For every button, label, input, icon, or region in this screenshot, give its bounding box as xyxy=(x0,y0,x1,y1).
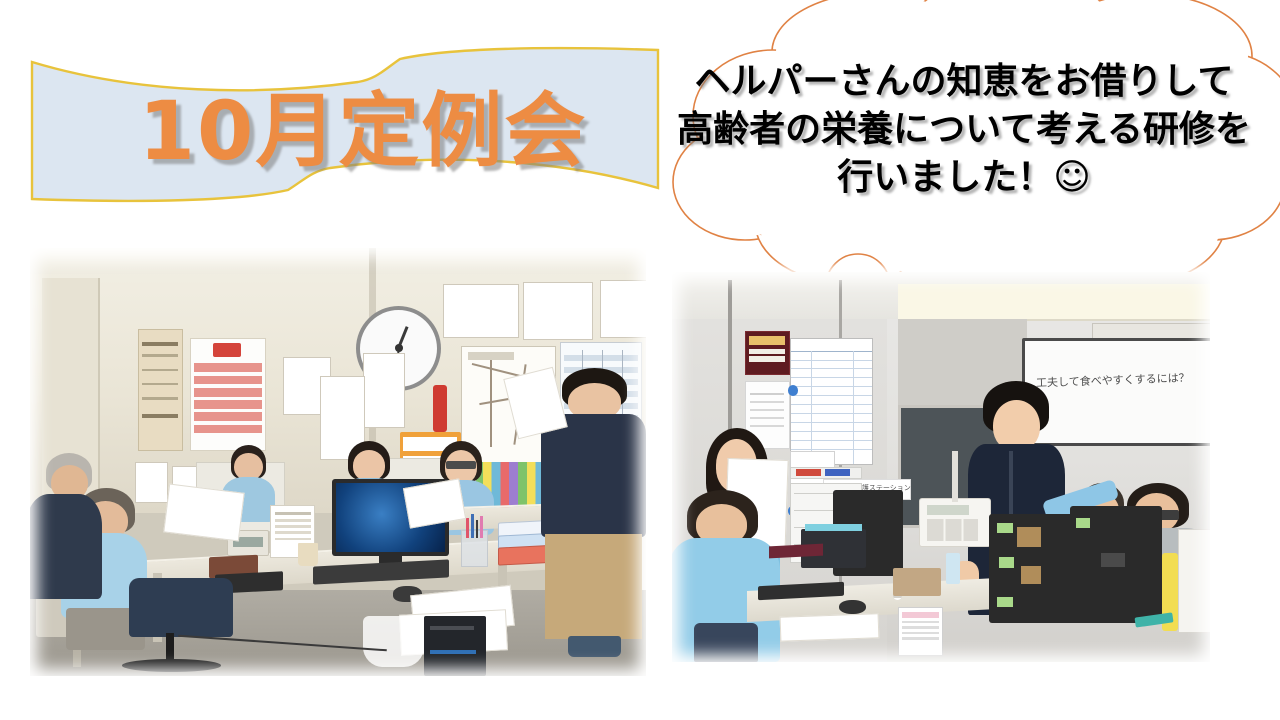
schedule-whiteboard xyxy=(790,338,873,465)
photo-left-scene xyxy=(30,248,646,676)
wall-hook xyxy=(433,385,447,432)
posted-notice xyxy=(443,284,519,337)
phone-antenna xyxy=(952,451,958,502)
document xyxy=(779,613,879,642)
month-calendar xyxy=(190,338,266,451)
thought-bubble-callout: ヘルパーさんの知恵をお借りして 高齢者の栄養について考える研修を 行いました！☺ xyxy=(655,0,1280,316)
campaign-poster xyxy=(745,331,790,376)
chair xyxy=(694,623,759,662)
monitor-back xyxy=(1070,506,1161,623)
marker-tray xyxy=(790,467,862,479)
spray-bottle xyxy=(946,553,960,584)
chair-wheels xyxy=(122,659,221,672)
photo-left xyxy=(30,248,646,676)
mouse xyxy=(839,600,866,614)
photo-right: 工夫して食べやすくするには？ xyxy=(672,272,1210,662)
posted-notice xyxy=(600,280,646,338)
document-stand xyxy=(1178,529,1210,632)
paper-cup xyxy=(298,543,318,566)
slide-canvas: 10月定例会 xyxy=(0,0,1280,720)
person-seated-foreground xyxy=(30,453,104,599)
document xyxy=(163,483,244,541)
wall-calendar xyxy=(138,329,183,451)
monitor-back xyxy=(989,514,1080,623)
posted-notice xyxy=(523,282,593,340)
office-chair xyxy=(129,578,234,638)
banner-wave-shape xyxy=(32,48,658,201)
pen-stand xyxy=(461,530,488,566)
title-banner: 10月定例会 xyxy=(28,42,662,207)
pc-tower xyxy=(424,616,486,676)
desk-calendar xyxy=(898,607,943,656)
posted-notice xyxy=(363,353,405,428)
photo-right-scene: 工夫して食べやすくするには？ xyxy=(672,272,1210,662)
cordless-phone xyxy=(919,498,991,547)
tissue-box xyxy=(893,568,941,595)
plastic-bag xyxy=(363,616,425,667)
